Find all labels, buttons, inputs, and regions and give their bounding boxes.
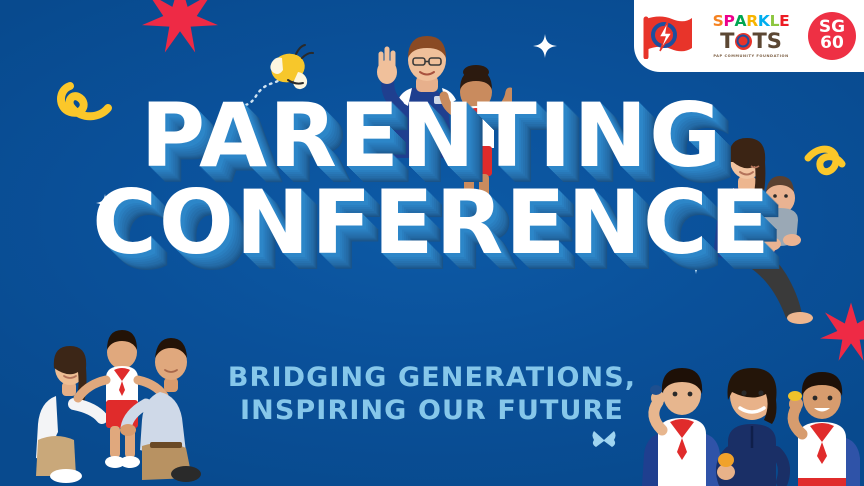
tots-o-icon xyxy=(735,33,752,50)
sparkle-tots-tagline: PAP COMMUNITY FOUNDATION xyxy=(713,54,788,58)
parenting-conference-poster: PARENTING CONFERENCE xyxy=(0,0,864,486)
title-line-1: PARENTING xyxy=(0,96,864,177)
sg60-line-2: 60 xyxy=(820,36,844,52)
sg60-logo: SG 60 xyxy=(808,12,856,60)
pcf-logo-icon xyxy=(642,13,694,59)
sparkle-wordmark: SPARKLE xyxy=(713,14,790,30)
tots-wordmark: TTS xyxy=(720,31,782,52)
sparkle-tots-logo: SPARKLE TTS PAP COMMUNITY FOUNDATION xyxy=(708,12,794,60)
logo-panel: SPARKLE TTS PAP COMMUNITY FOUNDATION SG … xyxy=(634,0,864,72)
photo-family-mother-child-father xyxy=(26,300,226,486)
title-line-2: CONFERENCE xyxy=(0,183,864,264)
photo-teacher-with-two-children xyxy=(640,360,862,486)
poster-title: PARENTING CONFERENCE xyxy=(0,96,864,264)
